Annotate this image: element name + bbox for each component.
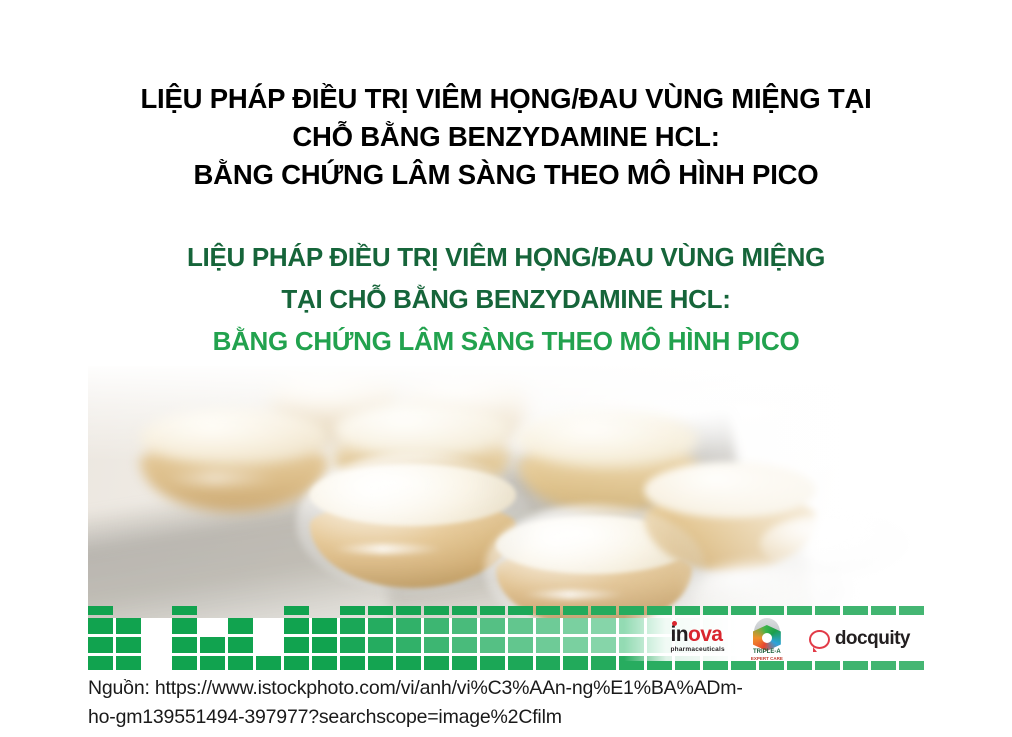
triple-a-label: TRIPLE-A EXPERT CARE (747, 649, 787, 661)
inova-wordmark: inova (671, 624, 723, 645)
inova-logo: inova pharmaceuticals (671, 624, 725, 654)
speech-bubble-icon (809, 630, 830, 649)
inova-letters-ova: ova (688, 623, 722, 646)
triple-a-hex-center (762, 633, 772, 643)
triple-a-logo: TRIPLE-A EXPERT CARE (747, 617, 787, 661)
docquity-wordmark: docquity (835, 628, 910, 650)
inova-subtitle: pharmaceuticals (671, 647, 725, 654)
source-caption-line-1: Nguồn: https://www.istockphoto.com/vi/an… (88, 674, 924, 703)
cover-image-card: LIỆU PHÁP ĐIỀU TRỊ VIÊM HỌNG/ĐAU VÙNG MI… (88, 218, 924, 670)
page-title-line-1: LIỆU PHÁP ĐIỀU TRỊ VIÊM HỌNG/ĐAU VÙNG MI… (0, 80, 1012, 118)
cover-title: LIỆU PHÁP ĐIỀU TRỊ VIÊM HỌNG/ĐAU VÙNG MI… (88, 236, 924, 362)
cover-title-line-2: TẠI CHỖ BẰNG BENZYDAMINE HCL: (88, 278, 924, 320)
mosaic-footer-bar: inova pharmaceuticals TRIPLE-A EXPERT CA… (88, 606, 924, 670)
page-title-line-2: CHỖ BẰNG BENZYDAMINE HCL: (0, 118, 1012, 156)
logo-row: inova pharmaceuticals TRIPLE-A EXPERT CA… (671, 617, 910, 661)
cover-title-line-3: BẰNG CHỨNG LÂM SÀNG THEO MÔ HÌNH PICO (88, 320, 924, 362)
triple-a-label-line-1: TRIPLE-A (753, 649, 781, 655)
cover-title-line-1: LIỆU PHÁP ĐIỀU TRỊ VIÊM HỌNG/ĐAU VÙNG MI… (88, 236, 924, 278)
inova-letter-n: n (676, 623, 688, 646)
page-title: LIỆU PHÁP ĐIỀU TRỊ VIÊM HỌNG/ĐAU VÙNG MI… (0, 80, 1012, 194)
docquity-logo: docquity (809, 628, 910, 650)
lozenge-photo (88, 366, 924, 618)
inova-dot-icon (672, 621, 677, 626)
page-title-line-3: BẰNG CHỨNG LÂM SÀNG THEO MÔ HÌNH PICO (0, 156, 1012, 194)
lozenge-mid-1 (140, 408, 328, 512)
mosaic-row-top (88, 606, 924, 615)
source-caption-line-2: ho-gm139551494-397977?searchscope=image%… (88, 703, 924, 732)
triple-a-label-line-2: EXPERT CARE (747, 656, 787, 661)
source-caption: Nguồn: https://www.istockphoto.com/vi/an… (88, 674, 924, 732)
